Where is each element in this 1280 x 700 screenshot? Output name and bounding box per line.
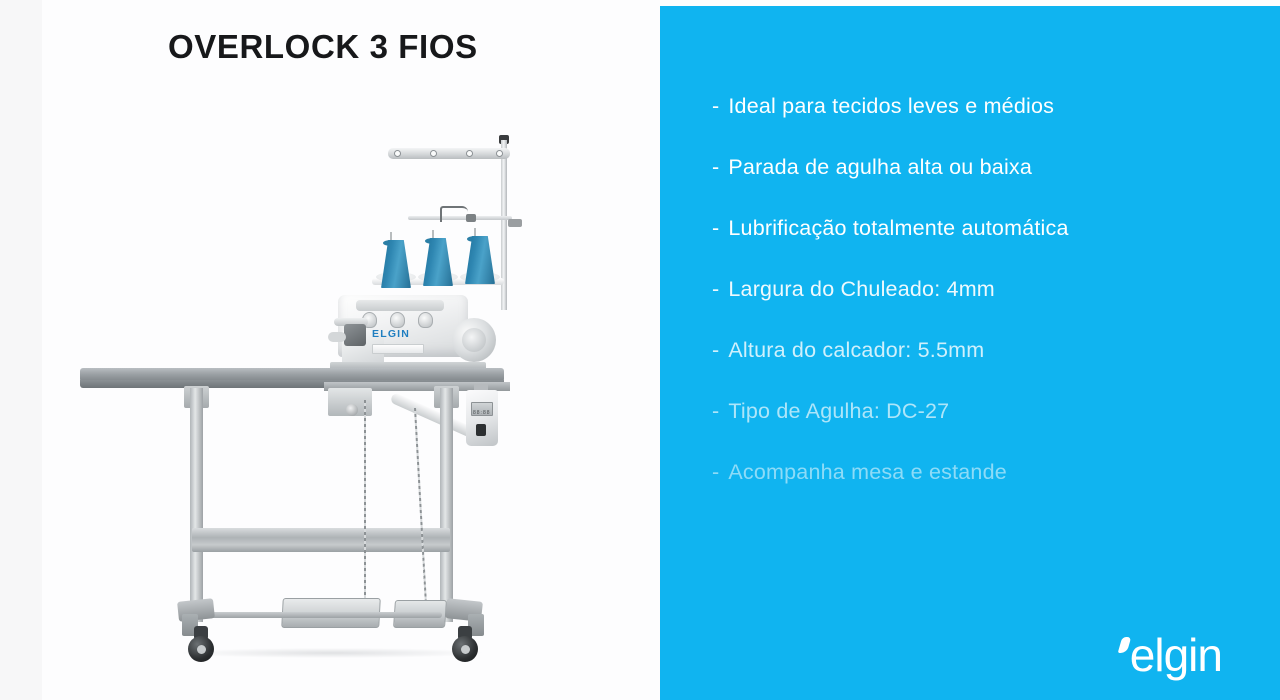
bullet-dash: - [712,338,719,363]
list-item-label: Altura do calcador: 5.5mm [728,338,984,363]
list-item: - Tipo de Agulha: DC-27 [712,399,1252,424]
ground-shadow [182,648,482,658]
bullet-dash: - [712,399,719,424]
list-item: - Acompanha mesa e estande [712,460,1252,485]
handwheel-hub [462,328,486,352]
tension-disc [418,312,433,328]
list-item: - Ideal para tecidos leves e médios [712,94,1252,119]
machine-brand-label: ELGIN [372,328,410,340]
warning-label [372,344,424,354]
stand-leg-right [440,388,453,622]
tension-disc [390,312,405,328]
needle-assembly [344,324,366,346]
stand-cross-beam [192,528,450,552]
page-title: OVERLOCK 3 FIOS [168,28,478,66]
elgin-logo-text: elgin [1130,632,1222,678]
guide-knob [466,214,476,222]
bullet-dash: - [712,94,719,119]
bullet-dash: - [712,277,719,302]
list-item-label: Ideal para tecidos leves e médios [728,94,1054,119]
list-item-label: Lubrificação totalmente automática [728,216,1068,241]
list-item: - Parada de agulha alta ou baixa [712,155,1252,180]
list-item-label: Acompanha mesa e estande [728,460,1007,485]
post-side-knob [508,219,522,227]
left-gutter [0,0,42,700]
list-item: - Altura do calcador: 5.5mm [712,338,1252,363]
looper-arm [328,332,346,342]
control-power-button [476,424,486,436]
thread-cone [423,238,453,286]
pedal-chain [364,400,366,602]
product-slide: ELGIN 88:88 [0,0,1280,700]
bullet-dash: - [712,155,719,180]
control-box [466,390,498,446]
list-item-label: Parada de agulha alta ou baixa [728,155,1032,180]
thread-guide-bar [388,148,510,159]
pedal-chain [414,408,427,604]
thread-eyelet-icon [466,150,473,157]
specs-panel: - Ideal para tecidos leves e médios - Pa… [660,6,1280,700]
thread-eyelet-icon [430,150,437,157]
list-item-label: Tipo de Agulha: DC-27 [728,399,949,424]
thread-eyelet-icon [496,150,503,157]
thread-cone [381,240,411,288]
list-item-label: Largura do Chuleado: 4mm [728,277,995,302]
product-image: ELGIN 88:88 [42,0,660,700]
machine-head-top-slot [356,300,444,311]
thread-cone [465,236,495,284]
thread-hook-icon [440,206,468,222]
thread-eyelet-icon [394,150,401,157]
motor-knob [346,404,358,416]
stand-leg-left [190,388,203,622]
stand-bottom-rail [200,612,442,618]
list-item: - Lubrificação totalmente automática [712,216,1252,241]
bullet-dash: - [712,460,719,485]
elgin-logo: elgin [1120,632,1222,678]
bullet-dash: - [712,216,719,241]
specs-list: - Ideal para tecidos leves e médios - Pa… [712,94,1252,521]
control-display-value: 88:88 [473,410,491,416]
list-item: - Largura do Chuleado: 4mm [712,277,1252,302]
